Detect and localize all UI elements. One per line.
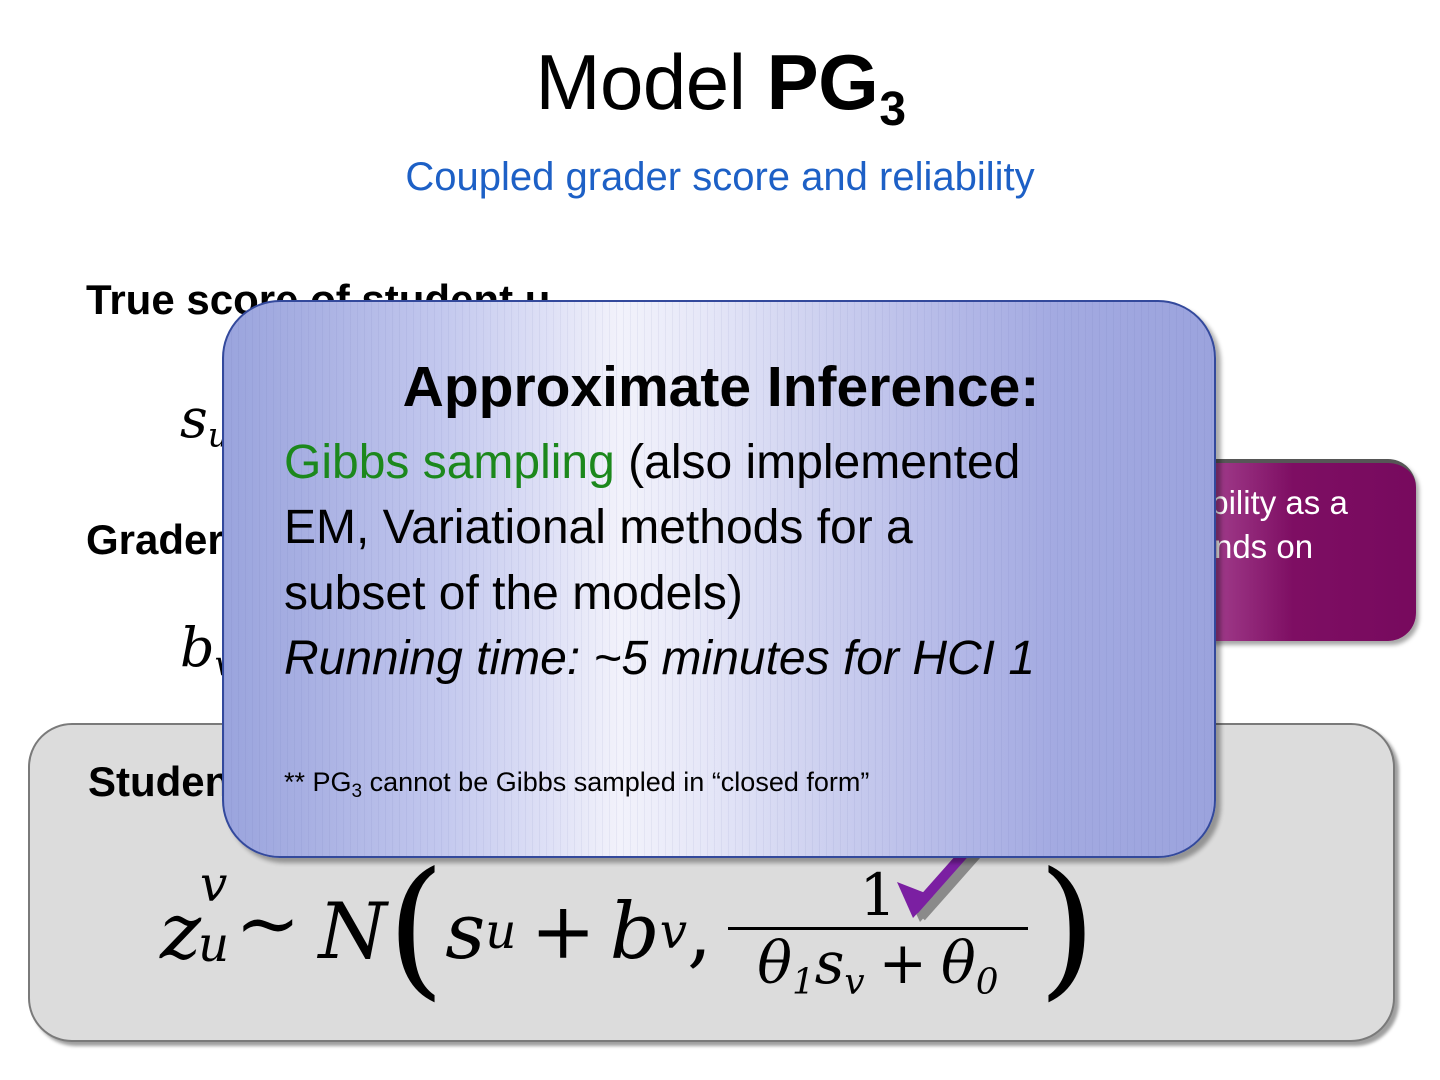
- page-title-model-code: PG: [767, 38, 879, 126]
- inference-body-line-1: Gibbs sampling (also implemented: [284, 430, 1184, 495]
- observed-comma: ,: [687, 887, 712, 977]
- denominator-theta0-subscript: 0: [976, 961, 999, 1002]
- approximate-inference-footnote: ** PG3 cannot be Gibbs sampled in “close…: [284, 767, 869, 803]
- page-title-prefix: Model: [535, 38, 766, 126]
- true-score-lhs: s: [180, 387, 208, 450]
- denominator-theta1-subscript: 1: [792, 961, 815, 1002]
- observed-mean-bias: b: [610, 887, 660, 977]
- grader-bias-lhs: b: [180, 616, 215, 679]
- observed-variance-denominator: θ1sv+θ0: [751, 930, 1004, 1002]
- observed-mean-plus: +: [530, 887, 595, 977]
- denominator-s-subscript: v: [844, 961, 864, 1002]
- footnote-prefix: ** PG: [284, 767, 352, 797]
- approximate-inference-overlay[interactable]: Approximate Inference: Gibbs sampling (a…: [222, 300, 1216, 858]
- observed-mean-bias-subscript: v: [660, 904, 687, 960]
- observed-open-paren: (: [387, 887, 446, 970]
- observed-variance-fraction: 1 θ1sv+θ0: [728, 867, 1028, 1002]
- observed-distribution: N: [318, 887, 386, 977]
- footnote-subscript: 3: [352, 781, 363, 802]
- inference-body-line-2: EM, Variational methods for a: [284, 495, 1184, 560]
- approximate-inference-heading: Approximate Inference:: [224, 354, 1216, 420]
- page-title-subscript: 3: [879, 83, 905, 136]
- denominator-theta0: θ: [941, 929, 976, 997]
- inference-method-rest: (also implemented: [615, 436, 1021, 489]
- observed-mean-student-subscript: u: [485, 904, 516, 960]
- gibbs-sampling-highlight: Gibbs sampling: [284, 436, 615, 489]
- observed-mean-student: s: [445, 887, 485, 977]
- observed-close-paren: ): [1038, 887, 1097, 970]
- page-title: Model PG3: [0, 42, 1440, 124]
- page-subtitle: Coupled grader score and reliability: [0, 155, 1440, 200]
- observed-grade-equation: zvu ~ N ( su + bv , 1 θ1sv+θ0 ): [160, 865, 1096, 1000]
- denominator-plus: +: [879, 929, 927, 997]
- observed-lhs-subscript: u: [198, 917, 229, 973]
- observed-lhs-superscript: v: [200, 857, 227, 913]
- denominator-theta1: θ: [757, 929, 792, 997]
- slide-canvas: Model PG3 Coupled grader score and relia…: [0, 0, 1440, 1080]
- observed-lhs-group: zvu: [160, 887, 201, 977]
- inference-running-time: Running time: ~5 minutes for HCI 1: [284, 626, 1184, 691]
- approximate-inference-body: Gibbs sampling (also implemented EM, Var…: [284, 430, 1184, 691]
- observed-lhs: z: [160, 887, 201, 977]
- denominator-s: s: [815, 929, 845, 997]
- observed-relation: ~: [235, 879, 300, 969]
- footnote-rest: cannot be Gibbs sampled in “closed form”: [362, 767, 869, 797]
- observed-variance-numerator: 1: [859, 867, 896, 927]
- inference-body-line-3: subset of the models): [284, 561, 1184, 626]
